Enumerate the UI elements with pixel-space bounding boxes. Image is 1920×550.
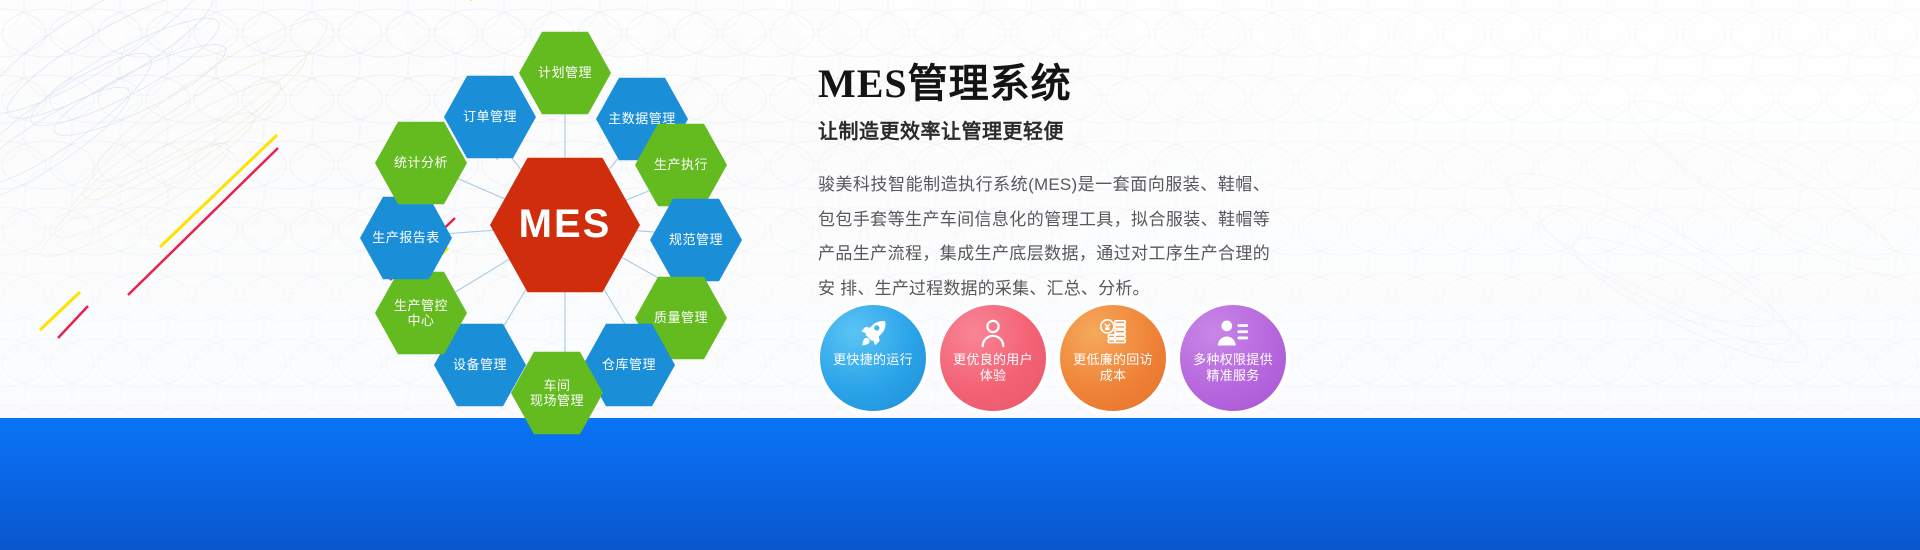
badge-label: 更低廉的回访 成本	[1065, 352, 1161, 385]
banner-text-block: MES管理系统 让制造更效率让管理更轻便 骏美科技智能制造执行系统(MES)是一…	[818, 62, 1318, 306]
badge-label: 更优良的用户 体验	[945, 352, 1041, 385]
hex-label: 质量管理	[650, 310, 712, 325]
hex-label: 仓库管理	[598, 357, 660, 372]
mes-hexagon-diagram: MES 计划管理 主数据管理 生产执行 规范管理 质量管理 仓库管理 车间 现场…	[330, 10, 800, 440]
user-list-icon	[1217, 318, 1249, 348]
page-title: MES管理系统	[818, 62, 1318, 106]
banner-root: MES 计划管理 主数据管理 生产执行 规范管理 质量管理 仓库管理 车间 现场…	[0, 0, 1920, 550]
hex-label: 计划管理	[534, 65, 596, 80]
rocket-icon	[858, 318, 888, 348]
description-paragraph: 骏美科技智能制造执行系统(MES)是一套面向服装、鞋帽、包包手套等生产车间信息化…	[818, 168, 1270, 306]
badge-lower-cost[interactable]: 更低廉的回访 成本	[1060, 305, 1166, 411]
page-subtitle: 让制造更效率让管理更轻便	[818, 115, 1318, 144]
hex-label: 生产报告表	[368, 230, 444, 245]
hex-label: 规范管理	[665, 232, 727, 247]
badge-label: 更快捷的运行	[825, 352, 921, 368]
hex-label: 统计分析	[390, 155, 452, 170]
user-icon	[978, 318, 1008, 348]
hex-label: 订单管理	[459, 109, 521, 124]
hex-center-label: MES	[515, 201, 616, 248]
feature-badge-list: 更快捷的运行 更优良的用户 体验	[820, 305, 1286, 411]
hex-label: 生产管控 中心	[390, 298, 452, 329]
badge-faster-operation[interactable]: 更快捷的运行	[820, 305, 926, 411]
badge-label: 多种权限提供 精准服务	[1185, 352, 1281, 385]
hex-label: 生产执行	[650, 157, 712, 172]
coins-icon	[1098, 318, 1128, 348]
hex-label: 设备管理	[449, 357, 511, 372]
badge-multi-permission[interactable]: 多种权限提供 精准服务	[1180, 305, 1286, 411]
badge-better-user-experience[interactable]: 更优良的用户 体验	[940, 305, 1046, 411]
hex-label: 车间 现场管理	[526, 378, 588, 409]
